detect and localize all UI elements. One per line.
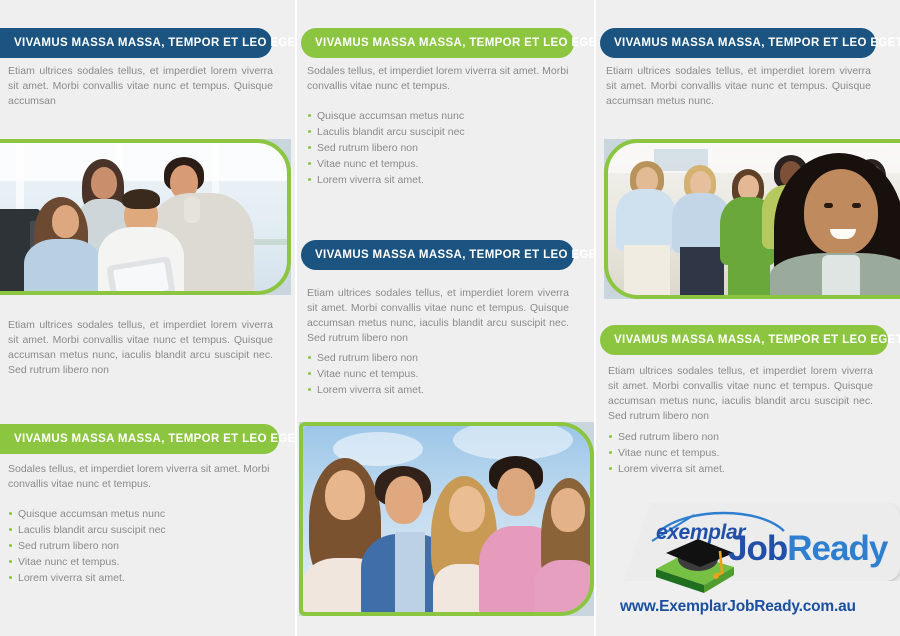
list-item: Laculis blandit arcu suscipit nec (307, 124, 465, 140)
photo-right-green-frame (604, 139, 900, 299)
bullet-list-mid-top: Quisque accumsan metus nunc Laculis blan… (307, 108, 465, 188)
brochure-page: VIVAMUS MASSA MASSA, TEMPOR ET LEO EGET … (0, 0, 900, 636)
bullet-list-mid-second: Sed rutrum libero non Vitae nunc et temp… (307, 350, 424, 398)
list-item: Lorem viverra sit amet. (608, 461, 725, 477)
heading-left-top: VIVAMUS MASSA MASSA, TEMPOR ET LEO EGET (0, 28, 272, 58)
heading-right-top: VIVAMUS MASSA MASSA, TEMPOR ET LEO EGET (600, 28, 876, 58)
logo-ready-text: Ready (787, 529, 887, 568)
heading-mid-top: VIVAMUS MASSA MASSA, TEMPOR ET LEO EGET (301, 28, 574, 58)
panel-left: VIVAMUS MASSA MASSA, TEMPOR ET LEO EGET … (0, 0, 295, 636)
photo-mid-green-frame (299, 422, 594, 616)
list-item: Laculis blandit arcu suscipit nec (8, 522, 166, 538)
website-url[interactable]: www.ExemplarJobReady.com.au (620, 598, 856, 616)
list-item: Sed rutrum libero non (307, 350, 424, 366)
heading-left-bottom: VIVAMUS MASSA MASSA, TEMPOR ET LEO EGET (0, 424, 279, 454)
photo-office-team (0, 139, 291, 295)
list-item: Lorem viverra sit amet. (307, 172, 465, 188)
heading-right-second: VIVAMUS MASSA MASSA, TEMPOR ET LEO EGET (600, 325, 888, 355)
list-item: Sed rutrum libero non (307, 140, 465, 156)
paragraph-mid-top: Sodales tellus, et imperdiet lorem viver… (307, 64, 569, 94)
graduation-cap-book-icon (648, 533, 740, 595)
panel-gutter-left (295, 0, 297, 636)
photo-left-green-frame (0, 139, 291, 295)
list-item: Vitae nunc et tempus. (307, 366, 424, 382)
panel-gutter-right (594, 0, 596, 636)
paragraph-left-mid: Etiam ultrices sodales tellus, et imperd… (8, 318, 273, 378)
bullet-list-left-bottom: Quisque accumsan metus nunc Laculis blan… (8, 506, 166, 586)
list-item: Sed rutrum libero non (8, 538, 166, 554)
photo-five-friends (299, 422, 594, 616)
paragraph-left-top: Etiam ultrices sodales tellus, et imperd… (8, 64, 273, 109)
paragraph-right-second: Etiam ultrices sodales tellus, et imperd… (608, 364, 873, 424)
list-item: Vitae nunc et tempus. (608, 445, 725, 461)
list-item: Sed rutrum libero non (608, 429, 725, 445)
panel-middle: VIVAMUS MASSA MASSA, TEMPOR ET LEO EGET … (297, 0, 594, 636)
logo-word-jobready: JobReady (728, 529, 887, 569)
list-item: Quisque accumsan metus nunc (307, 108, 465, 124)
heading-mid-second: VIVAMUS MASSA MASSA, TEMPOR ET LEO EGET (301, 240, 574, 270)
list-item: Vitae nunc et tempus. (8, 554, 166, 570)
list-item: Lorem viverra sit amet. (8, 570, 166, 586)
list-item: Lorem viverra sit amet. (307, 382, 424, 398)
paragraph-mid-second: Etiam ultrices sodales tellus, et imperd… (307, 286, 569, 346)
paragraph-right-top: Etiam ultrices sodales tellus, et imperd… (606, 64, 871, 109)
bullet-list-right-second: Sed rutrum libero non Vitae nunc et temp… (608, 429, 725, 477)
exemplar-jobready-logo: exemplar JobReady (648, 505, 898, 581)
logo-job-text: Job (728, 529, 787, 568)
photo-diverse-group (604, 139, 900, 299)
list-item: Quisque accumsan metus nunc (8, 506, 166, 522)
panel-right: VIVAMUS MASSA MASSA, TEMPOR ET LEO EGET … (596, 0, 900, 636)
paragraph-left-bottom: Sodales tellus, et imperdiet lorem viver… (8, 462, 273, 492)
list-item: Vitae nunc et tempus. (307, 156, 465, 172)
